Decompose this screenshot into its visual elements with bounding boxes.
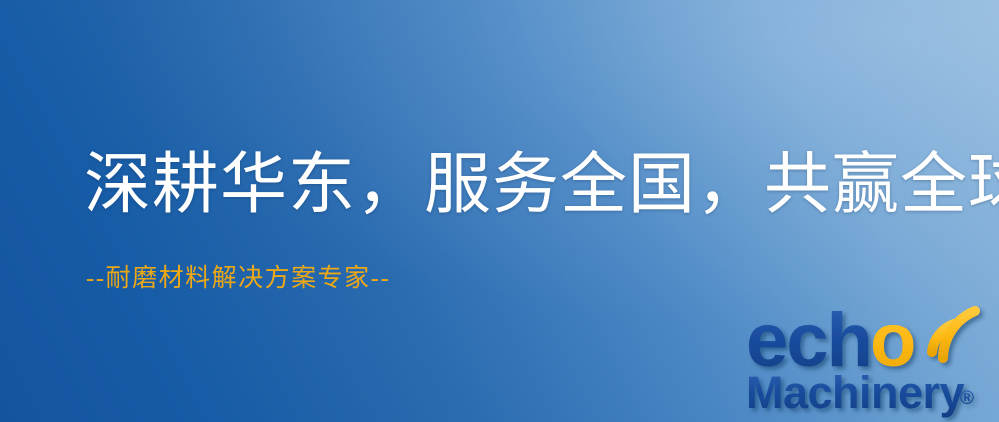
echo-machinery-logo: ech o Machinery ® ech o Machinery ® (742, 296, 999, 422)
echo-wave-arcs (932, 311, 975, 358)
registered-trademark-icon: ® (960, 388, 974, 409)
logo-machinery-word: Machinery (746, 367, 965, 418)
banner-subtitle: --耐磨材料解决方案专家-- (86, 266, 390, 291)
banner-headline: 深耕华东，服务全国，共赢全球 (84, 152, 999, 219)
promotional-banner: 深耕华东，服务全国，共赢全球 --耐磨材料解决方案专家-- (0, 0, 999, 422)
